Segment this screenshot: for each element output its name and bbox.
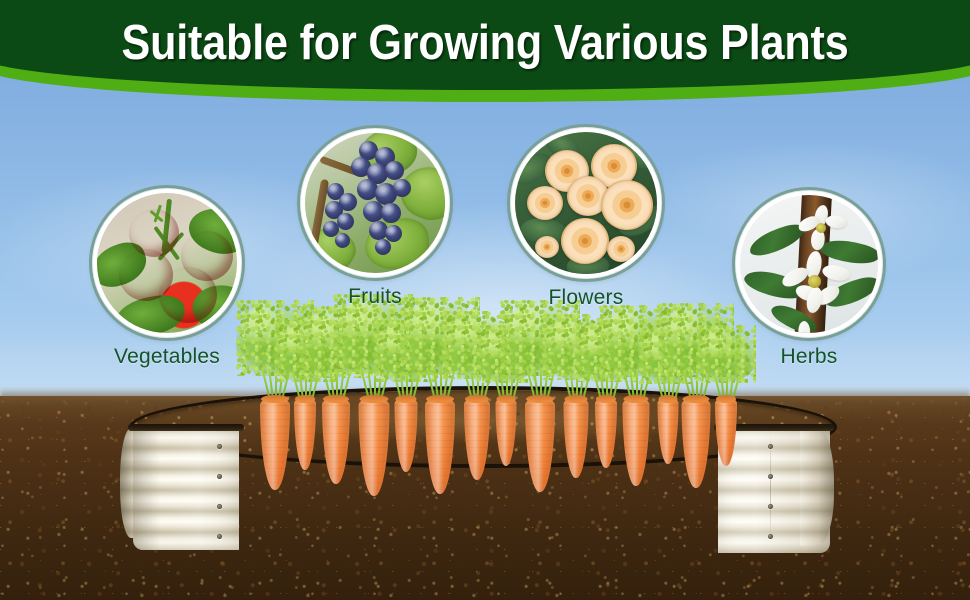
carrot-crown (465, 395, 489, 403)
roses-photo (515, 132, 657, 274)
carrot-crown (497, 395, 516, 403)
carrot-crown (360, 395, 389, 403)
grapes-photo (305, 133, 445, 273)
carrot-crown (526, 395, 554, 403)
carrot-crown (261, 395, 289, 403)
category-fruits[interactable]: Fruits (300, 128, 450, 309)
carrot-crown (565, 395, 588, 403)
herbs-circle-frame (735, 190, 883, 338)
bed-bolt-right (768, 504, 773, 509)
category-vegetables[interactable]: Vegetables (92, 188, 242, 369)
page-title: Suitable for Growing Various Plants (58, 0, 912, 86)
carrot-crown (323, 395, 349, 403)
carrot-crown (596, 395, 616, 403)
flowers-circle-frame (510, 127, 662, 279)
carrot-crown (624, 395, 649, 403)
carrot-crown (396, 395, 417, 403)
vanilla-photo (740, 195, 878, 333)
bed-bolt-right (768, 534, 773, 539)
carrot-crown (295, 395, 315, 403)
tomato-photo (97, 193, 237, 333)
bed-bolt-right (768, 474, 773, 479)
vegetables-circle-frame (92, 188, 242, 338)
category-label-flowers: Flowers (510, 286, 662, 310)
bed-right-endcap (800, 428, 834, 546)
carrot-crown (716, 395, 736, 403)
bed-bolt-left (217, 534, 222, 539)
category-label-fruits: Fruits (300, 285, 450, 309)
category-flowers[interactable]: Flowers (510, 127, 662, 310)
bed-bolt-left (217, 474, 222, 479)
bed-bolt-left (217, 504, 222, 509)
bed-bolt-left (217, 444, 222, 449)
product-feature-poster: Suitable for Growing Various Plants Vege… (0, 0, 970, 600)
carrot-crown (659, 395, 678, 403)
bed-bolt-right (768, 444, 773, 449)
bed-left-rim (128, 424, 244, 431)
carrot-crown (426, 395, 454, 403)
carrot-crown (683, 395, 710, 403)
fruits-circle-frame (300, 128, 450, 278)
bed-left-panel (133, 428, 239, 550)
category-label-vegetables: Vegetables (92, 345, 242, 369)
category-label-herbs: Herbs (735, 345, 883, 369)
category-herbs[interactable]: Herbs (735, 190, 883, 369)
